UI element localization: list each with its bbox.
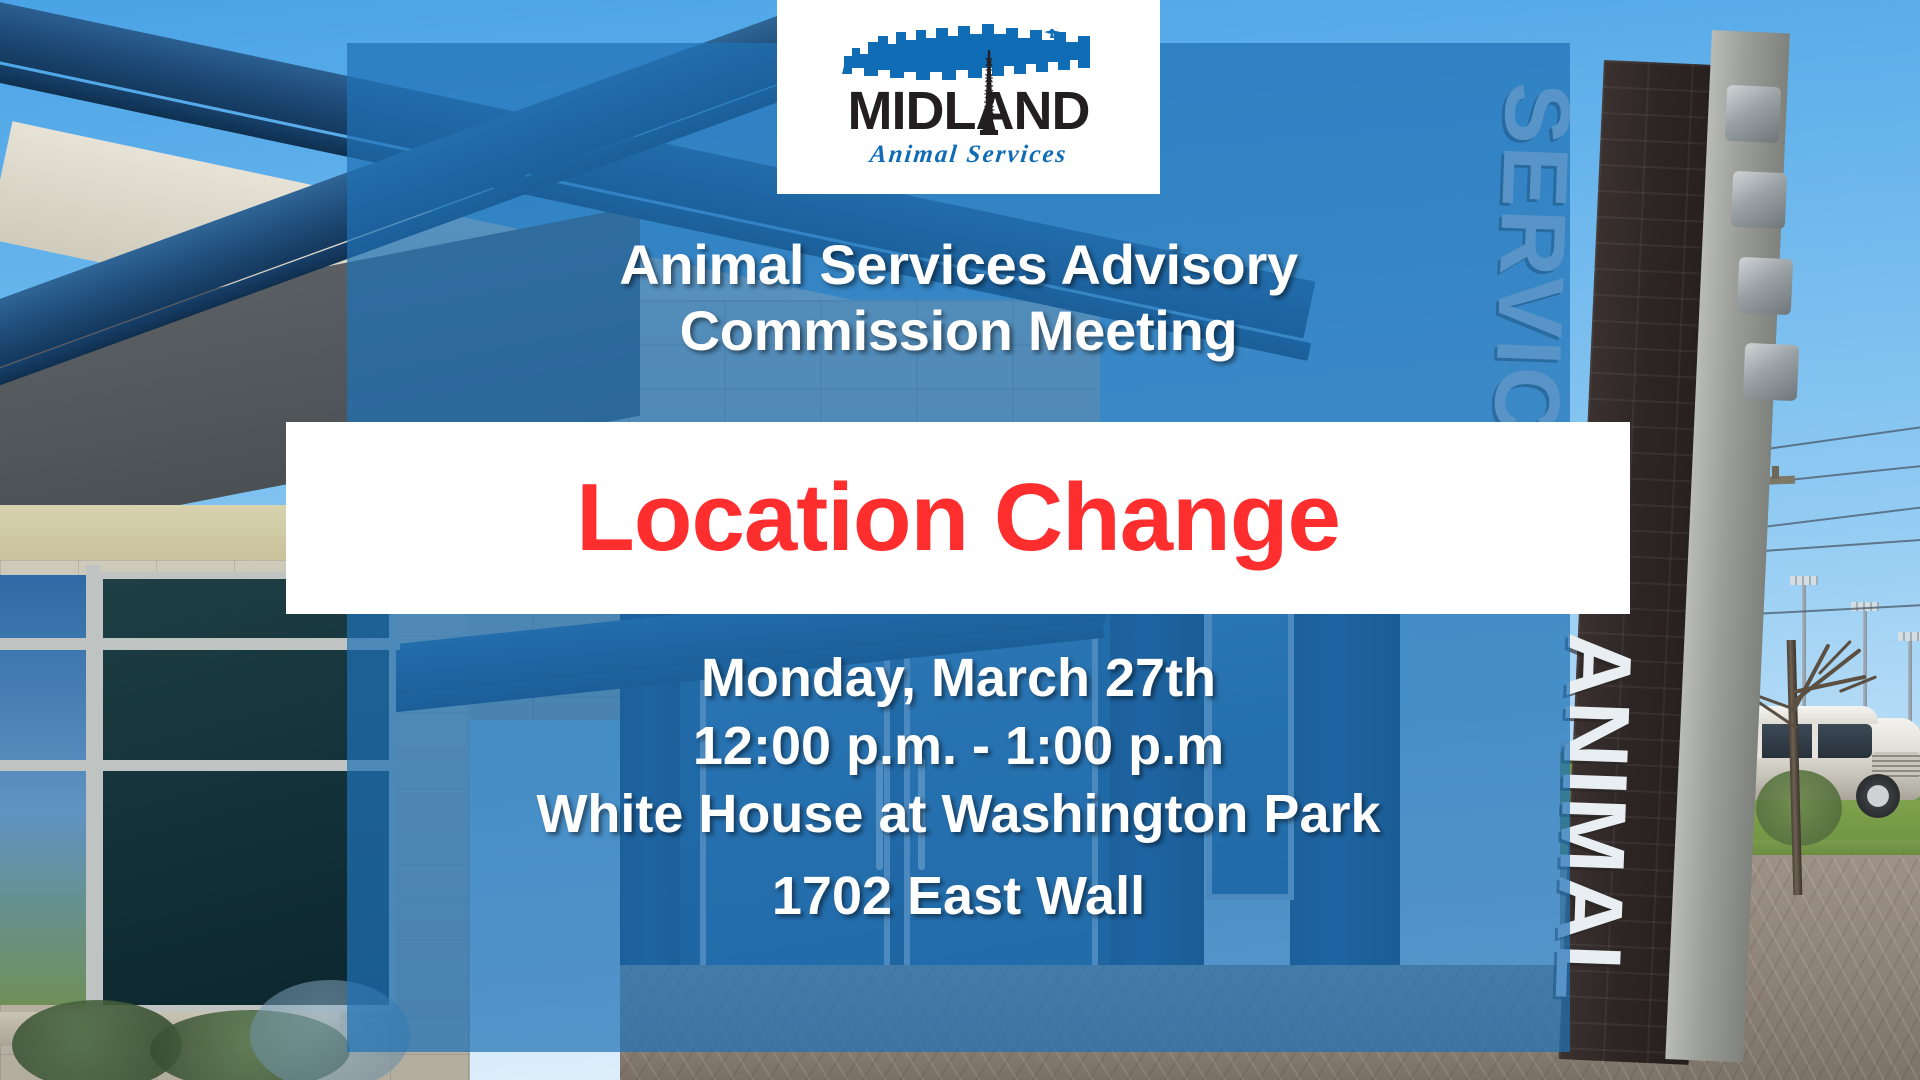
oil-derrick-icon [976, 50, 1002, 136]
event-flyer: SERVICES ANIMAL MIDLAND [0, 0, 1920, 1080]
logo-midland-text: MIDLAND [829, 84, 1109, 138]
event-address: 1702 East Wall [347, 862, 1570, 930]
page-title: Animal Services Advisory Commission Meet… [347, 232, 1570, 364]
logo-wordmark-group: MIDLAND [829, 84, 1109, 140]
city-skyline-icon [838, 22, 1100, 90]
headline-line-1: Animal Services Advisory [347, 232, 1570, 298]
flyer-content: MIDLAND Animal Servi [0, 0, 1920, 1080]
event-details: Monday, March 27th 12:00 p.m. - 1:00 p.m… [347, 644, 1570, 930]
location-change-text: Location Change [576, 470, 1340, 566]
logo-tagline: Animal Services [868, 141, 1068, 169]
event-venue: White House at Washington Park [347, 780, 1570, 848]
logo-card: MIDLAND Animal Servi [777, 0, 1160, 194]
headline-line-2: Commission Meeting [347, 298, 1570, 364]
location-change-banner: Location Change [286, 422, 1630, 614]
details-spacer [347, 848, 1570, 862]
event-time: 12:00 p.m. - 1:00 p.m [347, 712, 1570, 780]
event-date: Monday, March 27th [347, 644, 1570, 712]
